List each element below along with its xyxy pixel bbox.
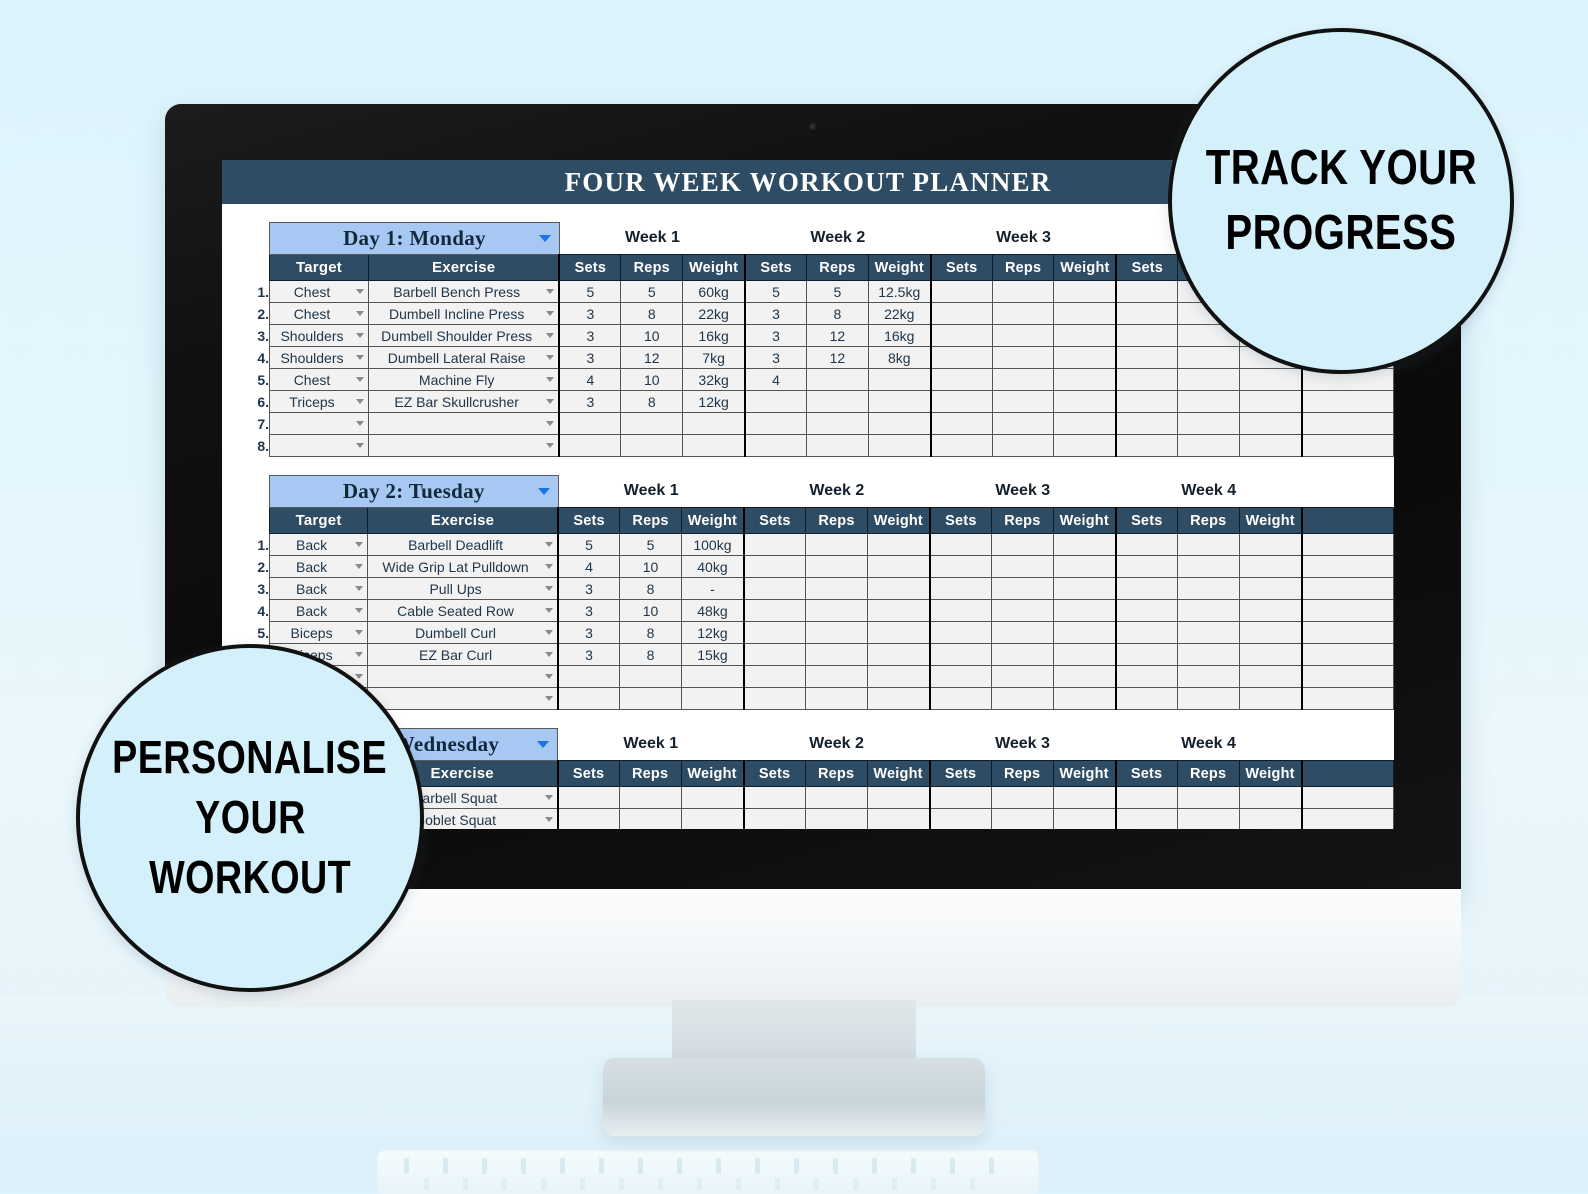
- cell-week4-sets[interactable]: [1116, 347, 1178, 369]
- cell-week2-reps[interactable]: [806, 622, 868, 644]
- cell-week3-weight[interactable]: [1053, 556, 1115, 578]
- chevron-down-icon[interactable]: [356, 311, 364, 316]
- cell-week4-reps[interactable]: [1178, 413, 1240, 435]
- day-header-row: Day 3: WednesdayWeek 1Week 2Week 3Week 4: [248, 729, 1394, 761]
- cell-week4-reps[interactable]: [1178, 369, 1240, 391]
- cell-week2-weight[interactable]: [867, 556, 929, 578]
- cell-week1-weight[interactable]: [681, 787, 743, 809]
- cell-week3-reps[interactable]: [992, 391, 1054, 413]
- exercise-dropdown-cell[interactable]: Cable Seated Row: [368, 600, 558, 622]
- cell-week4-reps[interactable]: [1177, 688, 1239, 710]
- cell-week3-sets[interactable]: [931, 347, 993, 369]
- cell-trailing[interactable]: [1302, 534, 1394, 556]
- cell-week4-reps[interactable]: [1177, 809, 1239, 830]
- cell-week2-reps[interactable]: 12: [807, 347, 869, 369]
- cell-trailing[interactable]: [1302, 809, 1394, 830]
- cell-week2-weight[interactable]: [868, 435, 930, 457]
- cell-week1-reps[interactable]: 10: [621, 325, 683, 347]
- cell-week3-reps[interactable]: [991, 622, 1053, 644]
- cell-week2-sets[interactable]: [744, 600, 806, 622]
- chevron-down-icon[interactable]: [545, 652, 553, 657]
- cell-week2-sets[interactable]: 5: [745, 281, 807, 303]
- cell-week2-weight[interactable]: [867, 787, 929, 809]
- chevron-down-icon[interactable]: [356, 377, 364, 382]
- keyboard-key: [833, 1158, 838, 1174]
- chevron-down-icon[interactable]: [355, 586, 363, 591]
- cell-week1-reps[interactable]: 8: [621, 391, 683, 413]
- cell-week4-reps[interactable]: [1177, 622, 1239, 644]
- cell-week3-sets[interactable]: [930, 809, 992, 830]
- cell-week2-sets[interactable]: [744, 809, 806, 830]
- cell-week2-sets[interactable]: [745, 391, 807, 413]
- cell-week4-weight[interactable]: [1239, 809, 1301, 830]
- chevron-down-icon[interactable]: [546, 311, 554, 316]
- cell-week3-weight[interactable]: [1054, 325, 1116, 347]
- cell-week1-sets[interactable]: [559, 435, 621, 457]
- cell-week4-sets[interactable]: [1116, 325, 1178, 347]
- cell-week4-sets[interactable]: [1116, 556, 1178, 578]
- cell-trailing[interactable]: [1302, 578, 1394, 600]
- cell-week2-reps[interactable]: [807, 369, 869, 391]
- cell-week4-reps[interactable]: [1177, 787, 1239, 809]
- cell-week2-weight[interactable]: [868, 391, 930, 413]
- cell-week2-reps[interactable]: [807, 413, 869, 435]
- cell-week2-weight[interactable]: [867, 809, 929, 830]
- target-dropdown-cell[interactable]: Biceps: [270, 622, 368, 644]
- cell-week3-sets[interactable]: [930, 688, 992, 710]
- cell-week3-reps[interactable]: [991, 534, 1053, 556]
- exercise-dropdown-cell[interactable]: Wide Grip Lat Pulldown: [368, 556, 558, 578]
- target-dropdown-cell[interactable]: Back: [270, 600, 368, 622]
- cell-week3-sets[interactable]: [930, 556, 992, 578]
- target-dropdown-cell[interactable]: Chest: [270, 281, 369, 303]
- cell-week2-reps[interactable]: [806, 534, 868, 556]
- exercise-dropdown-cell[interactable]: EZ Bar Curl: [368, 644, 558, 666]
- cell-week2-sets[interactable]: 3: [745, 303, 807, 325]
- chevron-down-icon[interactable]: [545, 795, 553, 800]
- cell-week4-weight[interactable]: [1239, 666, 1301, 688]
- chevron-down-icon[interactable]: [355, 564, 363, 569]
- cell-week4-reps[interactable]: [1177, 578, 1239, 600]
- chevron-down-icon[interactable]: [356, 443, 364, 448]
- cell-week4-weight[interactable]: [1240, 435, 1302, 457]
- target-dropdown-cell[interactable]: Back: [270, 534, 368, 556]
- exercise-dropdown-cell[interactable]: Barbell Deadlift: [368, 534, 558, 556]
- cell-week1-sets[interactable]: 4: [559, 369, 621, 391]
- cell-week2-weight[interactable]: [867, 534, 929, 556]
- cell-week3-sets[interactable]: [930, 578, 992, 600]
- cell-week1-reps[interactable]: [619, 787, 681, 809]
- cell-week3-weight[interactable]: [1054, 369, 1116, 391]
- cell-week3-weight[interactable]: [1054, 435, 1116, 457]
- column-header-week1-reps: Reps: [620, 508, 682, 534]
- target-value: Back: [296, 559, 327, 575]
- cell-week2-weight[interactable]: [867, 578, 929, 600]
- cell-week2-sets[interactable]: [744, 556, 806, 578]
- cell-week1-reps[interactable]: [620, 688, 682, 710]
- cell-week4-sets[interactable]: [1116, 578, 1178, 600]
- cell-week1-weight[interactable]: 100kg: [681, 534, 743, 556]
- cell-week1-weight[interactable]: 16kg: [683, 325, 745, 347]
- cell-week4-weight[interactable]: [1239, 787, 1301, 809]
- chevron-down-icon[interactable]: [356, 421, 364, 426]
- cell-week3-sets[interactable]: [931, 413, 993, 435]
- chevron-down-icon[interactable]: [546, 421, 554, 426]
- chevron-down-icon[interactable]: [355, 652, 363, 657]
- chevron-down-icon[interactable]: [545, 630, 553, 635]
- cell-week1-sets[interactable]: 3: [558, 600, 620, 622]
- cell-week4-weight[interactable]: [1239, 534, 1301, 556]
- cell-week2-reps[interactable]: [806, 688, 868, 710]
- cell-week3-sets[interactable]: [931, 435, 993, 457]
- cell-week2-weight[interactable]: [868, 369, 930, 391]
- cell-week1-weight[interactable]: 40kg: [681, 556, 743, 578]
- cell-week4-weight[interactable]: [1240, 369, 1302, 391]
- chevron-down-icon[interactable]: [546, 289, 554, 294]
- target-dropdown-cell[interactable]: Back: [270, 556, 368, 578]
- cell-week2-sets[interactable]: [744, 787, 806, 809]
- cell-week2-reps[interactable]: [805, 787, 867, 809]
- cell-week4-reps[interactable]: [1178, 391, 1240, 413]
- cell-week1-weight[interactable]: [681, 688, 743, 710]
- cell-week2-reps[interactable]: [806, 600, 868, 622]
- cell-week3-sets[interactable]: [931, 391, 993, 413]
- cell-trailing[interactable]: [1302, 787, 1394, 809]
- cell-week1-reps[interactable]: 10: [620, 600, 682, 622]
- cell-week2-weight[interactable]: [867, 644, 929, 666]
- cell-week2-reps[interactable]: [807, 391, 869, 413]
- cell-week4-reps[interactable]: [1177, 600, 1239, 622]
- cell-trailing[interactable]: [1302, 622, 1394, 644]
- exercise-dropdown-cell[interactable]: Dumbell Lateral Raise: [368, 347, 559, 369]
- cell-week4-sets[interactable]: [1116, 809, 1178, 830]
- cell-week3-reps[interactable]: [991, 578, 1053, 600]
- cell-week3-weight[interactable]: [1053, 534, 1115, 556]
- cell-week3-reps[interactable]: [992, 435, 1054, 457]
- exercise-dropdown-cell[interactable]: Machine Fly: [368, 369, 559, 391]
- cell-week1-sets[interactable]: 3: [558, 622, 620, 644]
- cell-week3-weight[interactable]: [1053, 688, 1115, 710]
- cell-week1-sets[interactable]: [558, 688, 620, 710]
- exercise-dropdown-cell[interactable]: [368, 413, 559, 435]
- cell-week3-weight[interactable]: [1053, 622, 1115, 644]
- cell-week1-sets[interactable]: 3: [559, 303, 621, 325]
- column-header-week4-sets: Sets: [1116, 508, 1178, 534]
- cell-week2-sets[interactable]: [744, 666, 806, 688]
- cell-week2-weight[interactable]: [867, 622, 929, 644]
- cell-week2-reps[interactable]: [806, 666, 868, 688]
- target-dropdown-cell[interactable]: Back: [270, 578, 368, 600]
- exercise-dropdown-cell[interactable]: [368, 688, 558, 710]
- cell-week2-weight[interactable]: 22kg: [868, 303, 930, 325]
- exercise-dropdown-cell[interactable]: Dumbell Shoulder Press: [368, 325, 559, 347]
- chevron-down-icon[interactable]: [356, 355, 364, 360]
- cell-week1-sets[interactable]: 3: [559, 325, 621, 347]
- cell-trailing[interactable]: [1302, 391, 1394, 413]
- cell-week1-reps[interactable]: 10: [621, 369, 683, 391]
- target-dropdown-cell[interactable]: Chest: [270, 303, 369, 325]
- cell-week3-reps[interactable]: [992, 413, 1054, 435]
- cell-week4-sets[interactable]: [1116, 600, 1178, 622]
- cell-week3-weight[interactable]: [1053, 809, 1115, 830]
- cell-week3-reps[interactable]: [991, 600, 1053, 622]
- cell-week1-weight[interactable]: 60kg: [683, 281, 745, 303]
- cell-week1-sets[interactable]: 3: [559, 391, 621, 413]
- cell-week4-sets[interactable]: [1116, 666, 1178, 688]
- cell-week2-sets[interactable]: [744, 534, 806, 556]
- chevron-down-icon[interactable]: [355, 674, 363, 679]
- cell-week4-reps[interactable]: [1177, 556, 1239, 578]
- cell-week3-weight[interactable]: [1054, 413, 1116, 435]
- cell-week2-reps[interactable]: 5: [807, 281, 869, 303]
- cell-week3-weight[interactable]: [1054, 281, 1116, 303]
- cell-week3-sets[interactable]: [931, 325, 993, 347]
- exercise-dropdown-cell[interactable]: Pull Ups: [368, 578, 558, 600]
- cell-week2-weight[interactable]: [868, 413, 930, 435]
- cell-week3-weight[interactable]: [1053, 600, 1115, 622]
- cell-week1-sets[interactable]: 3: [558, 578, 620, 600]
- cell-week1-sets[interactable]: [558, 809, 620, 830]
- cell-week3-reps[interactable]: [992, 369, 1054, 391]
- cell-trailing[interactable]: [1302, 413, 1394, 435]
- cell-week2-reps[interactable]: [806, 556, 868, 578]
- cell-week1-weight[interactable]: [683, 413, 745, 435]
- chevron-down-icon[interactable]: [356, 289, 364, 294]
- cell-week2-weight[interactable]: [867, 688, 929, 710]
- cell-week2-reps[interactable]: 8: [807, 303, 869, 325]
- cell-week2-reps[interactable]: [806, 578, 868, 600]
- exercise-dropdown-cell[interactable]: Dumbell Curl: [368, 622, 558, 644]
- target-dropdown-cell[interactable]: [270, 435, 369, 457]
- cell-week3-reps[interactable]: [991, 688, 1053, 710]
- chevron-down-icon[interactable]: [545, 542, 553, 547]
- cell-week3-sets[interactable]: [930, 600, 992, 622]
- chevron-down-icon[interactable]: [355, 630, 363, 635]
- cell-week2-sets[interactable]: 3: [745, 347, 807, 369]
- cell-week3-weight[interactable]: [1053, 787, 1115, 809]
- cell-week3-weight[interactable]: [1053, 578, 1115, 600]
- cell-week2-sets[interactable]: 4: [745, 369, 807, 391]
- cell-week4-reps[interactable]: [1177, 644, 1239, 666]
- cell-week1-weight[interactable]: 15kg: [681, 644, 743, 666]
- chevron-down-icon[interactable]: [356, 399, 364, 404]
- cell-week1-reps[interactable]: 12: [621, 347, 683, 369]
- cell-week4-sets[interactable]: [1116, 369, 1178, 391]
- chevron-down-icon[interactable]: [546, 333, 554, 338]
- cell-week4-sets[interactable]: [1116, 303, 1178, 325]
- chevron-down-icon[interactable]: [545, 564, 553, 569]
- cell-week2-sets[interactable]: [745, 435, 807, 457]
- exercise-dropdown-cell[interactable]: [368, 435, 559, 457]
- chevron-down-icon[interactable]: [546, 355, 554, 360]
- chevron-down-icon[interactable]: [355, 542, 363, 547]
- cell-trailing[interactable]: [1302, 556, 1394, 578]
- cell-week4-weight[interactable]: [1239, 644, 1301, 666]
- cell-week4-weight[interactable]: [1239, 622, 1301, 644]
- cell-week3-sets[interactable]: [930, 644, 992, 666]
- cell-week1-sets[interactable]: 5: [558, 534, 620, 556]
- cell-week1-sets[interactable]: 5: [559, 281, 621, 303]
- chevron-down-icon[interactable]: [545, 817, 553, 822]
- cell-week1-reps[interactable]: 5: [620, 534, 682, 556]
- target-dropdown-cell[interactable]: Triceps: [270, 391, 369, 413]
- cell-week2-weight[interactable]: [867, 600, 929, 622]
- cell-week1-weight[interactable]: [681, 809, 743, 830]
- cell-week3-reps[interactable]: [992, 303, 1054, 325]
- cell-week4-weight[interactable]: [1239, 688, 1301, 710]
- chevron-down-icon[interactable]: [546, 443, 554, 448]
- cell-week4-sets[interactable]: [1116, 534, 1178, 556]
- day-selector-day-2[interactable]: Day 2: Tuesday: [270, 476, 558, 508]
- cell-week1-weight[interactable]: -: [681, 578, 743, 600]
- cell-week2-sets[interactable]: [744, 622, 806, 644]
- cell-trailing[interactable]: [1302, 644, 1394, 666]
- cell-week2-weight[interactable]: 12.5kg: [868, 281, 930, 303]
- cell-week2-reps[interactable]: [806, 644, 868, 666]
- cell-week3-sets[interactable]: [931, 369, 993, 391]
- target-dropdown-cell[interactable]: Chest: [270, 369, 369, 391]
- cell-week4-weight[interactable]: [1239, 578, 1301, 600]
- cell-week1-sets[interactable]: 3: [559, 347, 621, 369]
- cell-week2-sets[interactable]: [745, 413, 807, 435]
- target-dropdown-cell[interactable]: [270, 413, 369, 435]
- cell-week1-reps[interactable]: 8: [620, 578, 682, 600]
- cell-week1-weight[interactable]: 12kg: [683, 391, 745, 413]
- cell-week1-weight[interactable]: 32kg: [683, 369, 745, 391]
- cell-week4-reps[interactable]: [1178, 435, 1240, 457]
- cell-week3-weight[interactable]: [1054, 303, 1116, 325]
- cell-week1-sets[interactable]: 3: [558, 644, 620, 666]
- week-label-1: Week 1: [558, 476, 744, 508]
- cell-week3-reps[interactable]: [991, 809, 1053, 830]
- cell-week4-sets[interactable]: [1116, 644, 1178, 666]
- cell-week4-sets[interactable]: [1116, 435, 1178, 457]
- chevron-down-icon[interactable]: [538, 488, 550, 495]
- chevron-down-icon[interactable]: [356, 333, 364, 338]
- cell-week1-sets[interactable]: [558, 787, 620, 809]
- table-row: 6.BicepsEZ Bar Curl3815kg: [248, 644, 1394, 666]
- target-dropdown-cell[interactable]: Shoulders: [270, 325, 369, 347]
- cell-week1-reps[interactable]: 8: [621, 303, 683, 325]
- cell-week1-weight[interactable]: 48kg: [681, 600, 743, 622]
- cell-trailing[interactable]: [1302, 688, 1394, 710]
- cell-week1-reps[interactable]: 5: [621, 281, 683, 303]
- cell-week1-reps[interactable]: [619, 809, 681, 830]
- cell-week3-sets[interactable]: [930, 534, 992, 556]
- cell-trailing[interactable]: [1302, 435, 1394, 457]
- cell-week2-reps[interactable]: 12: [807, 325, 869, 347]
- cell-week3-weight[interactable]: [1054, 347, 1116, 369]
- cell-week4-reps[interactable]: [1177, 666, 1239, 688]
- cell-week3-reps[interactable]: [991, 556, 1053, 578]
- day-selector-day-1[interactable]: Day 1: Monday: [270, 223, 560, 255]
- cell-week3-reps[interactable]: [991, 644, 1053, 666]
- cell-week1-reps[interactable]: [621, 435, 683, 457]
- cell-week1-reps[interactable]: 8: [620, 644, 682, 666]
- cell-week1-reps[interactable]: [620, 666, 682, 688]
- cell-week2-weight[interactable]: 8kg: [868, 347, 930, 369]
- cell-week4-sets[interactable]: [1116, 413, 1178, 435]
- cell-week3-reps[interactable]: [992, 281, 1054, 303]
- cell-week4-sets[interactable]: [1116, 787, 1178, 809]
- cell-week2-sets[interactable]: [744, 578, 806, 600]
- cell-week4-sets[interactable]: [1116, 281, 1178, 303]
- cell-week4-weight[interactable]: [1239, 600, 1301, 622]
- chevron-down-icon[interactable]: [537, 741, 549, 748]
- cell-week4-weight[interactable]: [1240, 391, 1302, 413]
- column-header-week3-weight: Weight: [1054, 255, 1116, 281]
- cell-week3-reps[interactable]: [992, 325, 1054, 347]
- exercise-dropdown-cell[interactable]: Dumbell Incline Press: [368, 303, 559, 325]
- chevron-down-icon[interactable]: [545, 696, 553, 701]
- exercise-dropdown-cell[interactable]: [368, 666, 558, 688]
- cell-week4-reps[interactable]: [1177, 534, 1239, 556]
- chevron-down-icon[interactable]: [545, 586, 553, 591]
- cell-week3-reps[interactable]: [992, 347, 1054, 369]
- cell-week2-sets[interactable]: [744, 688, 806, 710]
- row-number: 8.: [248, 435, 270, 457]
- cell-week1-weight[interactable]: 7kg: [683, 347, 745, 369]
- cell-trailing[interactable]: [1302, 600, 1394, 622]
- cell-week3-reps[interactable]: [991, 787, 1053, 809]
- cell-week1-weight[interactable]: 22kg: [683, 303, 745, 325]
- column-header-week2-sets: Sets: [744, 761, 806, 787]
- target-dropdown-cell[interactable]: Shoulders: [270, 347, 369, 369]
- chevron-down-icon[interactable]: [539, 235, 551, 242]
- chevron-down-icon[interactable]: [545, 608, 553, 613]
- column-header-week2-weight: Weight: [867, 508, 929, 534]
- cell-week3-sets[interactable]: [930, 787, 992, 809]
- cell-week3-weight[interactable]: [1054, 391, 1116, 413]
- cell-week4-reps[interactable]: [1178, 347, 1240, 369]
- cell-week2-weight[interactable]: 16kg: [868, 325, 930, 347]
- cell-week1-sets[interactable]: [558, 666, 620, 688]
- cell-week2-weight[interactable]: [867, 666, 929, 688]
- cell-week1-weight[interactable]: [683, 435, 745, 457]
- cell-week2-sets[interactable]: 3: [745, 325, 807, 347]
- cell-week1-sets[interactable]: [559, 413, 621, 435]
- chevron-down-icon[interactable]: [355, 608, 363, 613]
- cell-week1-reps[interactable]: 10: [620, 556, 682, 578]
- cell-week1-sets[interactable]: 4: [558, 556, 620, 578]
- cell-week3-weight[interactable]: [1053, 644, 1115, 666]
- cell-week3-reps[interactable]: [991, 666, 1053, 688]
- cell-week3-weight[interactable]: [1053, 666, 1115, 688]
- chevron-down-icon[interactable]: [545, 674, 553, 679]
- cell-week1-reps[interactable]: [621, 413, 683, 435]
- cell-week4-sets[interactable]: [1116, 391, 1178, 413]
- cell-week3-sets[interactable]: [931, 303, 993, 325]
- cell-week3-sets[interactable]: [930, 622, 992, 644]
- chevron-down-icon[interactable]: [546, 377, 554, 382]
- cell-week1-reps[interactable]: 8: [620, 622, 682, 644]
- exercise-dropdown-cell[interactable]: Barbell Bench Press: [368, 281, 559, 303]
- cell-week2-reps[interactable]: [805, 809, 867, 830]
- cell-week1-weight[interactable]: [681, 666, 743, 688]
- cell-week2-sets[interactable]: [744, 644, 806, 666]
- cell-week2-reps[interactable]: [807, 435, 869, 457]
- chevron-down-icon[interactable]: [546, 399, 554, 404]
- cell-week1-weight[interactable]: 12kg: [681, 622, 743, 644]
- exercise-dropdown-cell[interactable]: EZ Bar Skullcrusher: [368, 391, 559, 413]
- cell-trailing[interactable]: [1302, 666, 1394, 688]
- cell-week4-weight[interactable]: [1240, 413, 1302, 435]
- cell-week4-sets[interactable]: [1116, 688, 1178, 710]
- cell-week4-sets[interactable]: [1116, 622, 1178, 644]
- cell-week3-sets[interactable]: [931, 281, 993, 303]
- cell-week4-weight[interactable]: [1239, 556, 1301, 578]
- cell-week3-sets[interactable]: [930, 666, 992, 688]
